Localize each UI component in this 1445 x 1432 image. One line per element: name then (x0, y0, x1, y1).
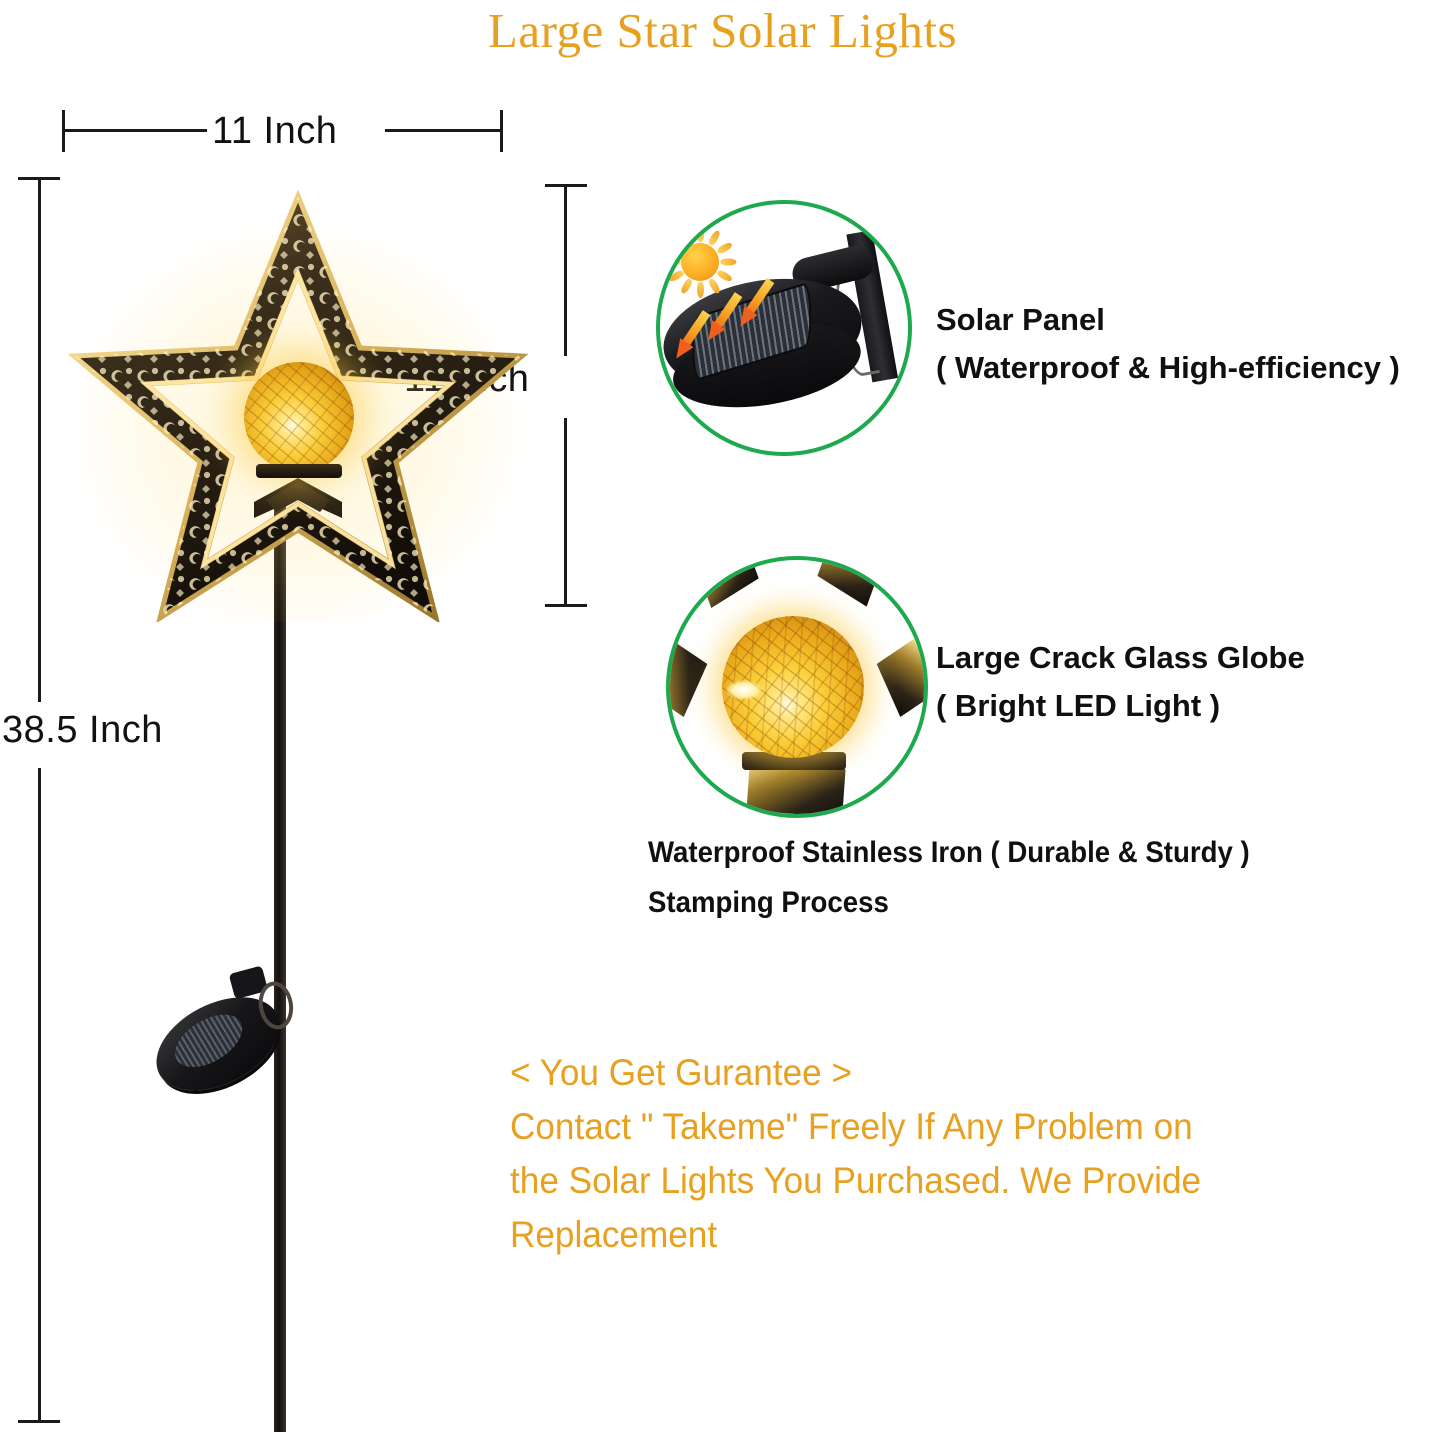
detail-circle-glass-globe (666, 556, 928, 818)
star-fragment-top-left (697, 556, 758, 608)
width-dim-label: 11 Inch (212, 110, 337, 153)
globe-led-hotspot (726, 680, 762, 700)
guarantee-line-1: Contact " Takeme" Freely If Any Problem … (510, 1100, 1403, 1154)
star-dim-line-lower (564, 418, 567, 606)
star-fragment-bottom (746, 763, 845, 818)
star-fragment-mid-left (666, 639, 707, 717)
guarantee-heading: < You Get Gurantee > (510, 1046, 1403, 1100)
star-light-head (58, 182, 538, 622)
glass-globe-closeup (670, 560, 924, 814)
page-title: Large Star Solar Lights (0, 2, 1445, 59)
total-dim-line-lower (38, 768, 41, 1421)
total-dim-line-upper (38, 177, 41, 702)
stake-pole (274, 496, 286, 1432)
callout-glass-globe-title: Large Crack Glass Globe (936, 634, 1305, 682)
star-dim-line-upper (564, 184, 567, 356)
callout-solar-panel-title: Solar Panel (936, 296, 1400, 344)
star-fragment-top-right (817, 556, 880, 607)
material-note: Waterproof Stainless Iron ( Durable & St… (648, 828, 1250, 928)
globe-collar (256, 464, 342, 478)
product-illustration (48, 176, 548, 1432)
callout-glass-globe: Large Crack Glass Globe ( Bright LED Lig… (936, 634, 1305, 730)
material-note-line-2: Stamping Process (648, 878, 1250, 928)
callout-solar-panel: Solar Panel ( Waterproof & High-efficien… (936, 296, 1400, 392)
callout-glass-globe-subtitle: ( Bright LED Light ) (936, 682, 1305, 730)
width-dim-line-right (385, 129, 501, 132)
globe-crackle-texture (244, 362, 354, 472)
width-dim-line-left (62, 129, 207, 132)
guarantee-line-3: Replacement (510, 1208, 1403, 1262)
material-note-line-1: Waterproof Stainless Iron ( Durable & St… (648, 828, 1250, 878)
guarantee-line-2: the Solar Lights You Purchased. We Provi… (510, 1154, 1403, 1208)
callout-solar-panel-subtitle: ( Waterproof & High-efficiency ) (936, 344, 1400, 392)
crack-glass-globe (244, 362, 354, 472)
product-infographic: Large Star Solar Lights 11 Inch 38.5 Inc… (0, 0, 1445, 1432)
guarantee-block: < You Get Gurantee > Contact " Takeme" F… (510, 1046, 1403, 1262)
sun-icon (666, 228, 734, 296)
star-fragment-mid-right (877, 639, 928, 717)
detail-circle-solar-panel (656, 200, 912, 456)
